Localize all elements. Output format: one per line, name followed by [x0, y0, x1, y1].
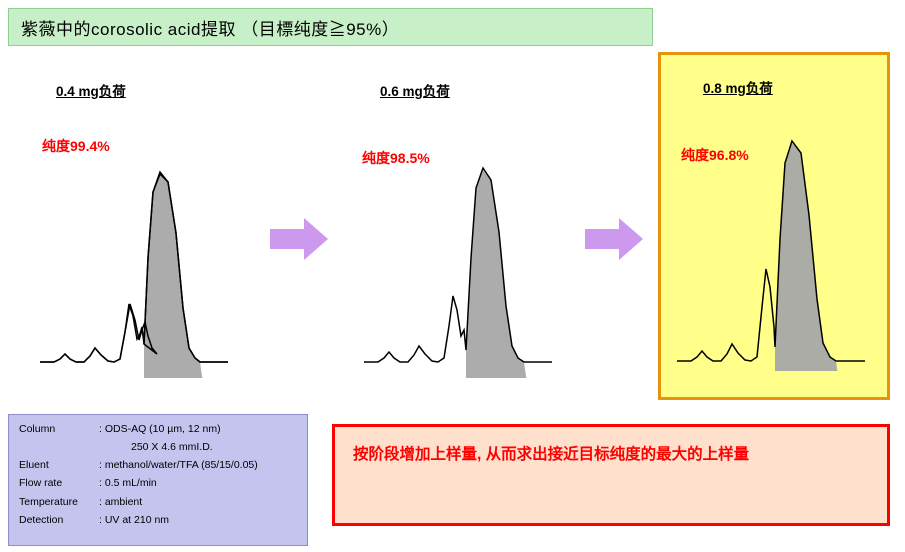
- chromatogram-panel-3-highlighted: 0.8 mg负荷 纯度96.8% 25 30 35 40: [658, 52, 890, 400]
- panel-1-heading: 0.4 mg负荷: [56, 80, 126, 100]
- method-value: : 0.5 mL/min: [97, 475, 299, 493]
- table-row: 250 X 4.6 mmI.D.: [17, 439, 299, 457]
- chromatogram-plot-2: 25 30 35: [356, 108, 568, 378]
- chromatogram-panel-2: 0.6 mg负荷 纯度98.5% 25 30 35: [340, 58, 588, 398]
- method-value: : UV at 210 nm: [97, 512, 299, 530]
- method-value: : ambient: [97, 494, 299, 512]
- progression-arrow-1: [268, 215, 330, 263]
- chromatogram-trace-1-overlay: [40, 172, 228, 362]
- chromatogram-panel-1: 0.4 mg负荷 纯度99.4% 25 30 35: [18, 58, 266, 398]
- method-conditions-table: Column : ODS-AQ (10 µm, 12 nm) 250 X 4.6…: [17, 421, 299, 530]
- chromatogram-trace-1: [40, 174, 228, 362]
- conclusion-callout-box: 按阶段增加上样量, 从而求出接近目标纯度的最大的上样量: [332, 424, 890, 526]
- table-row: Column : ODS-AQ (10 µm, 12 nm): [17, 421, 299, 439]
- collected-fraction-shading: [144, 174, 204, 378]
- method-value: : methanol/water/TFA (85/15/0.05): [97, 457, 299, 475]
- method-key: Flow rate: [17, 475, 97, 493]
- table-row: Temperature : ambient: [17, 494, 299, 512]
- method-key: Detection: [17, 512, 97, 530]
- method-key: Eluent: [17, 457, 97, 475]
- slide-title-banner: 紫薇中的corosolic acid提取 （目標纯度≧95%）: [8, 8, 653, 46]
- panel-2-heading: 0.6 mg负荷: [380, 80, 450, 100]
- method-key-blank: [17, 439, 97, 457]
- conclusion-text: 按阶段增加上样量, 从而求出接近目标纯度的最大的上样量: [353, 441, 869, 468]
- table-row: Flow rate : 0.5 mL/min: [17, 475, 299, 493]
- panel-3-heading: 0.8 mg负荷: [703, 77, 773, 97]
- slide-canvas: 紫薇中的corosolic acid提取 （目標纯度≧95%） 0.4 mg负荷…: [0, 0, 905, 552]
- progression-arrow-2: [583, 215, 645, 263]
- table-row: Eluent : methanol/water/TFA (85/15/0.05): [17, 457, 299, 475]
- method-value: : ODS-AQ (10 µm, 12 nm): [97, 421, 299, 439]
- page-title: 紫薇中的corosolic acid提取 （目標纯度≧95%）: [21, 15, 399, 40]
- table-row: Detection : UV at 210 nm: [17, 512, 299, 530]
- method-value-continued: 250 X 4.6 mmI.D.: [97, 439, 299, 457]
- method-key: Temperature: [17, 494, 97, 512]
- chromatogram-plot-3: 25 30 35 40: [671, 111, 879, 371]
- method-key: Column: [17, 421, 97, 439]
- chromatogram-trace-2: [364, 168, 552, 362]
- chromatogram-trace-3: [677, 141, 865, 361]
- method-conditions-box: Column : ODS-AQ (10 µm, 12 nm) 250 X 4.6…: [8, 414, 308, 546]
- chromatogram-plot-1: 25 30 35: [32, 108, 244, 378]
